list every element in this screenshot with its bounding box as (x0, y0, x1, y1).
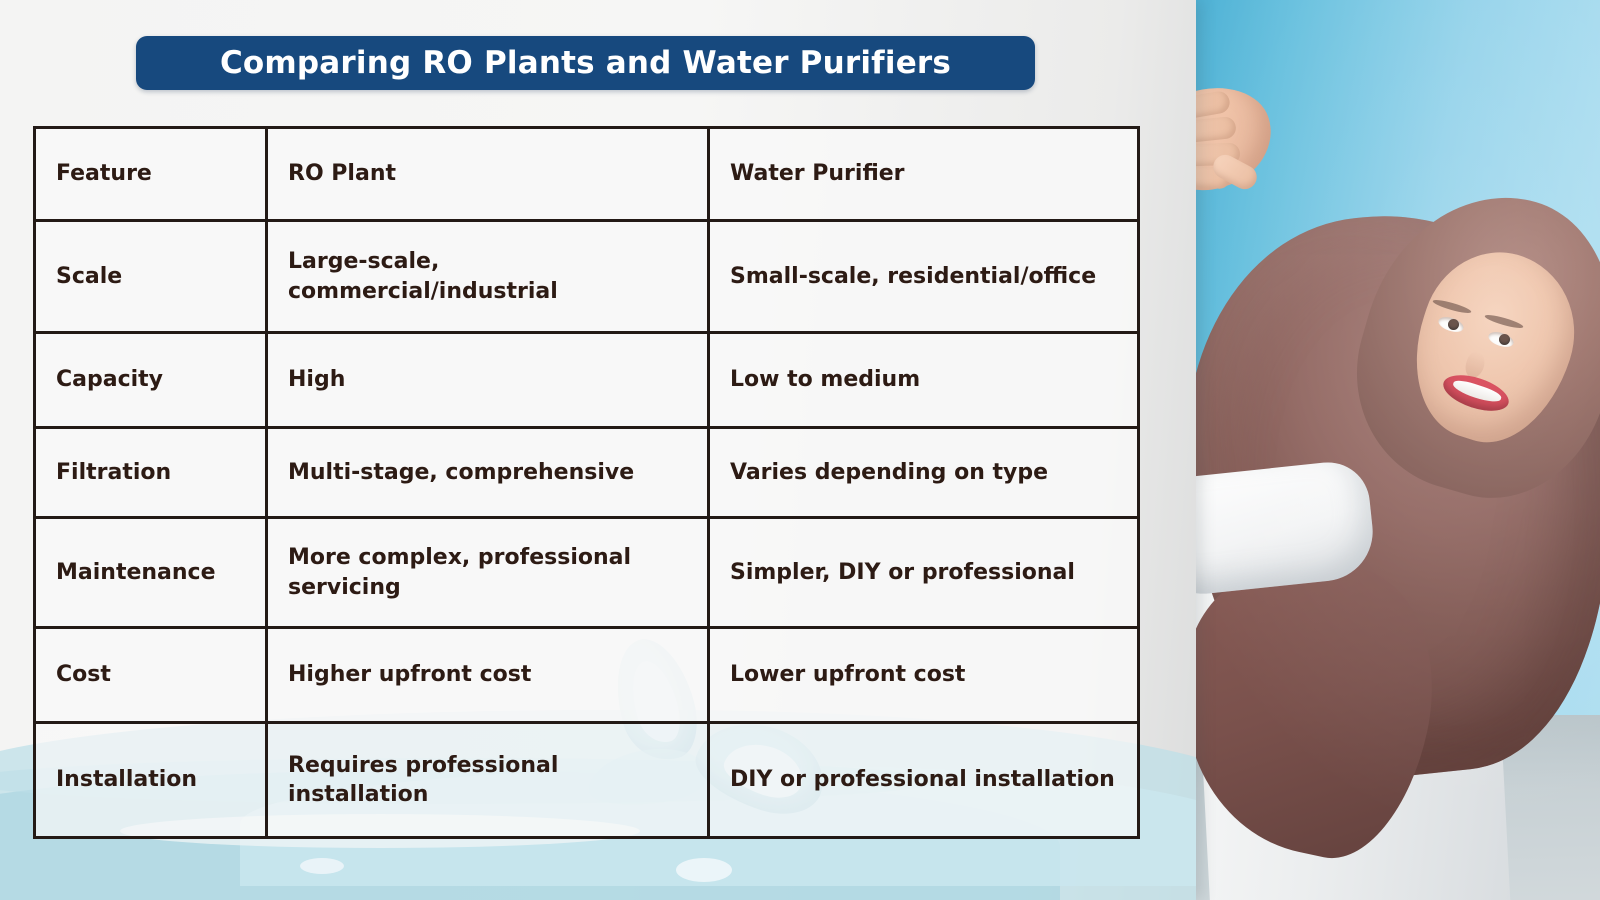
mouth (1439, 368, 1513, 418)
row-feature-label: Capacity (35, 333, 267, 428)
row-feature-label: Scale (35, 221, 267, 333)
row-ro-plant-value: Multi-stage, comprehensive (267, 428, 709, 518)
water-bubble-2 (300, 858, 344, 874)
table-row: Capacity High Low to medium (35, 333, 1139, 428)
water-bubble-1 (676, 858, 732, 882)
upper-thumb (1209, 151, 1261, 194)
row-feature-label: Installation (35, 723, 267, 838)
table-row: Filtration Multi-stage, comprehensive Va… (35, 428, 1139, 518)
photo-floor (1160, 715, 1600, 900)
comparison-table: Feature RO Plant Water Purifier Scale La… (33, 126, 1140, 839)
row-water-purifier-value: Lower upfront cost (709, 628, 1139, 723)
face (1392, 233, 1595, 461)
title-banner: Comparing RO Plants and Water Purifiers (136, 36, 1035, 90)
eyebrow-left (1432, 298, 1472, 316)
column-header-ro-plant: RO Plant (267, 128, 709, 221)
white-dress (1186, 422, 1511, 900)
pupil-right (1499, 334, 1510, 345)
hijab-drape (1162, 195, 1600, 796)
row-feature-label: Cost (35, 628, 267, 723)
hijab-hood (1328, 166, 1600, 523)
row-water-purifier-value: Low to medium (709, 333, 1139, 428)
woman-figure (1160, 0, 1600, 900)
row-feature-label: Maintenance (35, 518, 267, 628)
table-row: Installation Requires professional insta… (35, 723, 1139, 838)
hijab-tail (1160, 537, 1457, 873)
row-water-purifier-value: Simpler, DIY or professional (709, 518, 1139, 628)
table-row: Maintenance More complex, professional s… (35, 518, 1139, 628)
table-row: Cost Higher upfront cost Lower upfront c… (35, 628, 1139, 723)
pupil-left (1448, 319, 1459, 330)
eye-left (1437, 314, 1466, 334)
eye-right (1487, 329, 1516, 349)
row-water-purifier-value: Small-scale, residential/office (709, 221, 1139, 333)
row-water-purifier-value: DIY or professional installation (709, 723, 1139, 838)
column-header-feature: Feature (35, 128, 267, 221)
teeth (1451, 378, 1503, 406)
eyebrow-right (1484, 313, 1524, 331)
row-ro-plant-value: Large-scale, commercial/industrial (267, 221, 709, 333)
row-ro-plant-value: Requires professional installation (267, 723, 709, 838)
column-header-water-purifier: Water Purifier (709, 128, 1139, 221)
nose (1462, 350, 1487, 380)
row-feature-label: Filtration (35, 428, 267, 518)
row-ro-plant-value: More complex, professional servicing (267, 518, 709, 628)
page-title: Comparing RO Plants and Water Purifiers (220, 45, 951, 81)
presenter-photo (1160, 0, 1600, 900)
row-water-purifier-value: Varies depending on type (709, 428, 1139, 518)
table-header-row: Feature RO Plant Water Purifier (35, 128, 1139, 221)
row-ro-plant-value: High (267, 333, 709, 428)
table-row: Scale Large-scale, commercial/industrial… (35, 221, 1139, 333)
row-ro-plant-value: Higher upfront cost (267, 628, 709, 723)
white-board: Comparing RO Plants and Water Purifiers … (0, 0, 1196, 900)
infographic-canvas: Comparing RO Plants and Water Purifiers … (0, 0, 1600, 900)
